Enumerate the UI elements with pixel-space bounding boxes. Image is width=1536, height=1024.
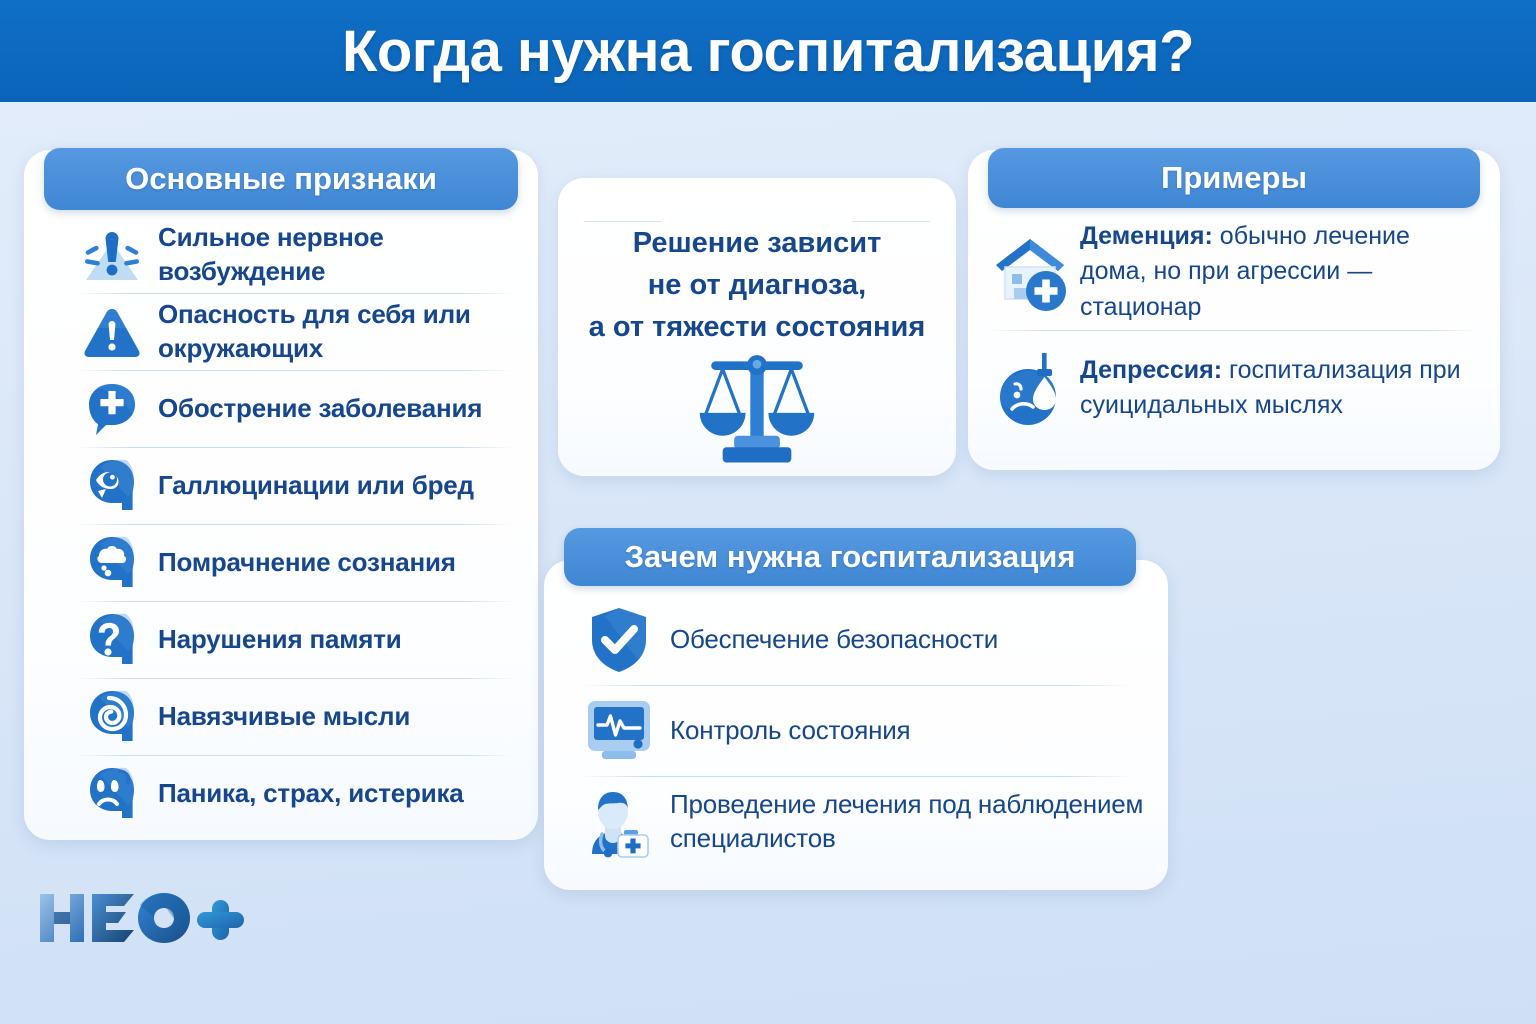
list-item-label: Галлюцинации или бред bbox=[158, 469, 474, 502]
list-item[interactable]: Галлюцинации или бред bbox=[24, 447, 538, 524]
list-item-label: Проведение лечения под наблюдением специ… bbox=[670, 788, 1168, 855]
list-item[interactable]: Навязчивые мысли bbox=[24, 678, 538, 755]
purpose-list: Обеспечение безопасности Контроль состоя… bbox=[544, 594, 1168, 867]
head-eye-icon bbox=[76, 455, 148, 517]
list-item[interactable]: Сильное нервное возбуждение bbox=[24, 216, 538, 293]
house-medical-icon bbox=[988, 229, 1074, 315]
warning-triangle-icon bbox=[76, 301, 148, 363]
statement-line-1: Решение зависит bbox=[558, 222, 956, 264]
list-item-label: Сильное нервное возбуждение bbox=[158, 221, 538, 288]
example-label: Депрессия: bbox=[1080, 356, 1222, 384]
list-item[interactable]: Проведение лечения под наблюдением специ… bbox=[544, 776, 1168, 867]
head-cloud-icon bbox=[76, 532, 148, 594]
example-label: Деменция: bbox=[1080, 222, 1213, 250]
head-spiral-icon bbox=[76, 686, 148, 748]
main-signs-title: Основные признаки bbox=[125, 161, 437, 197]
page-title: Когда нужна госпитализация? bbox=[342, 18, 1194, 85]
list-item-label: Обострение заболевания bbox=[158, 392, 482, 425]
list-item[interactable]: Контроль состояния bbox=[544, 685, 1168, 776]
list-item-label: Контроль состояния bbox=[670, 714, 910, 747]
main-signs-header: Основные признаки bbox=[44, 148, 518, 210]
head-question-icon bbox=[76, 609, 148, 671]
balance-scales-icon bbox=[558, 348, 956, 472]
speech-bubble-cross-icon bbox=[76, 378, 148, 440]
list-item[interactable]: Опасность для себя или окружающих bbox=[24, 293, 538, 370]
decision-statement-text: Решение зависит не от диагноза, а от тяж… bbox=[558, 222, 956, 348]
list-item[interactable]: Обострение заболевания bbox=[24, 370, 538, 447]
purpose-header: Зачем нужна госпитализация bbox=[564, 528, 1136, 586]
statement-line-3: а от тяжести состояния bbox=[558, 306, 956, 348]
examples-title: Примеры bbox=[1161, 160, 1307, 196]
list-item[interactable]: Нарушения памяти bbox=[24, 601, 538, 678]
list-item-label: Помрачнение сознания bbox=[158, 546, 456, 579]
shield-check-icon bbox=[580, 604, 658, 676]
list-item[interactable]: Депрессия: госпитализация при суицидальн… bbox=[968, 330, 1500, 446]
list-item[interactable]: Паника, страх, истерика bbox=[24, 755, 538, 832]
decision-statement-card: Решение зависит не от диагноза, а от тяж… bbox=[558, 178, 956, 476]
purpose-title: Зачем нужна госпитализация bbox=[625, 539, 1076, 575]
ecg-monitor-icon bbox=[580, 695, 658, 767]
list-item[interactable]: Обеспечение безопасности bbox=[544, 594, 1168, 685]
head-sad-face-icon bbox=[76, 763, 148, 825]
doctor-bag-icon bbox=[580, 786, 658, 858]
statement-divider-left bbox=[584, 221, 662, 222]
list-item-label: Паника, страх, истерика bbox=[158, 777, 464, 810]
list-item-label: Навязчивые мысли bbox=[158, 700, 410, 733]
neo-plus-logo bbox=[36, 888, 246, 948]
statement-divider-right bbox=[852, 221, 930, 222]
list-item-label: Нарушения памяти bbox=[158, 623, 402, 656]
list-item[interactable]: Деменция: обычно лечение дома, но при аг… bbox=[968, 214, 1500, 330]
list-item[interactable]: Помрачнение сознания bbox=[24, 524, 538, 601]
page-header-band: Когда нужна госпитализация? bbox=[0, 0, 1536, 102]
examples-header: Примеры bbox=[988, 148, 1480, 208]
statement-line-2: не от диагноза, bbox=[558, 264, 956, 306]
list-item-label: Опасность для себя или окружающих bbox=[158, 298, 538, 365]
example-text: Деменция: обычно лечение дома, но при аг… bbox=[1080, 219, 1482, 326]
exclamation-burst-icon bbox=[76, 224, 148, 286]
example-text: Депрессия: госпитализация при суицидальн… bbox=[1080, 353, 1482, 424]
sad-face-teardrop-icon bbox=[988, 345, 1074, 431]
examples-list: Деменция: обычно лечение дома, но при аг… bbox=[968, 214, 1500, 446]
main-signs-list: Сильное нервное возбуждение Опасность дл… bbox=[24, 216, 538, 832]
list-item-label: Обеспечение безопасности bbox=[670, 623, 998, 656]
